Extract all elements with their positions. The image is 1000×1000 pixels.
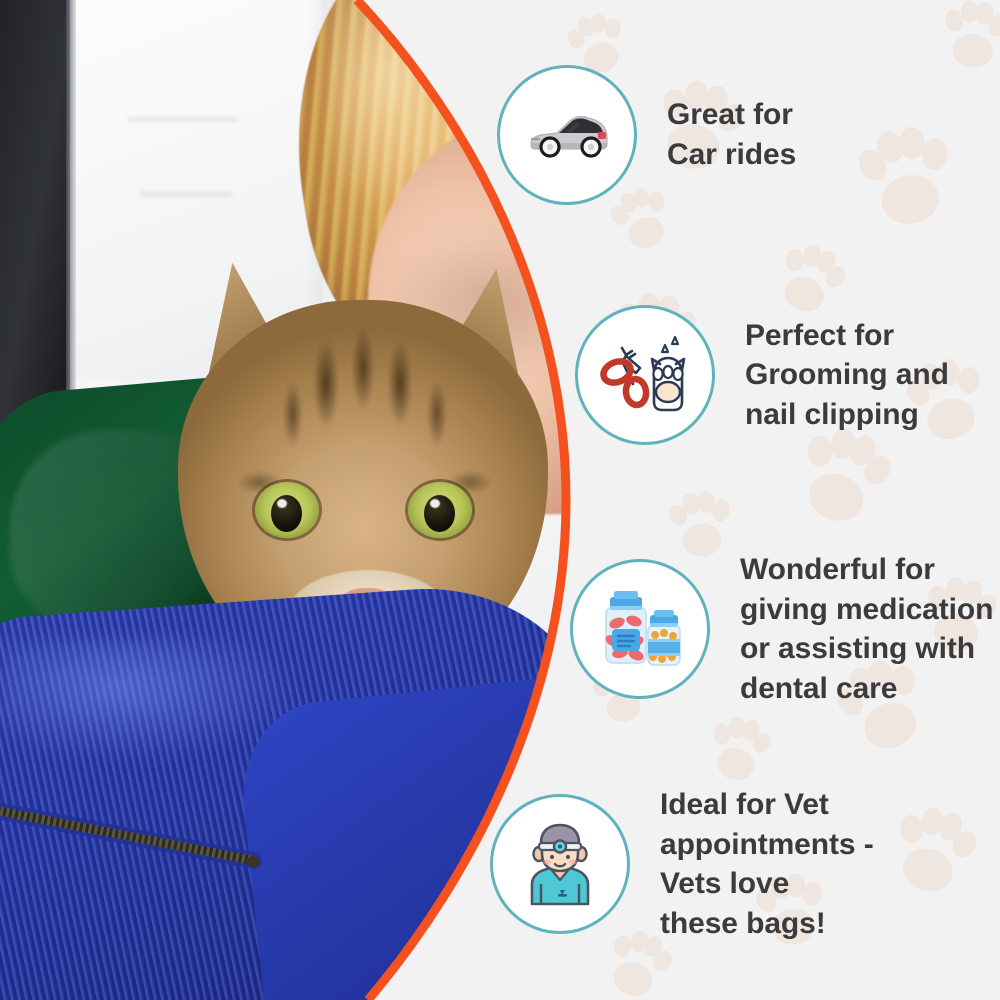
badge-grooming	[575, 305, 715, 445]
feature-label: Great for Car rides	[667, 95, 796, 174]
feature-label: Wonderful for giving medication or assis…	[740, 550, 993, 708]
car-icon	[519, 87, 615, 183]
badge-medication	[570, 559, 710, 699]
nail-clipper-paw-icon	[596, 326, 694, 424]
feature-label: Ideal for Vet appointments - Vets love t…	[660, 785, 874, 943]
feature-item-grooming[interactable]: Perfect for Grooming and nail clipping	[575, 305, 949, 445]
feature-item-medication[interactable]: Wonderful for giving medication or assis…	[570, 550, 993, 708]
feature-item-vet[interactable]: Ideal for Vet appointments - Vets love t…	[490, 785, 874, 943]
badge-vet	[490, 794, 630, 934]
feature-list: Great for Car rides	[0, 0, 1000, 1000]
feature-item-car-rides[interactable]: Great for Car rides	[497, 65, 796, 205]
veterinarian-icon	[512, 816, 608, 912]
product-feature-infographic: Great for Car rides	[0, 0, 1000, 1000]
medicine-bottles-icon	[590, 579, 690, 679]
feature-label: Perfect for Grooming and nail clipping	[745, 316, 949, 435]
badge-car	[497, 65, 637, 205]
